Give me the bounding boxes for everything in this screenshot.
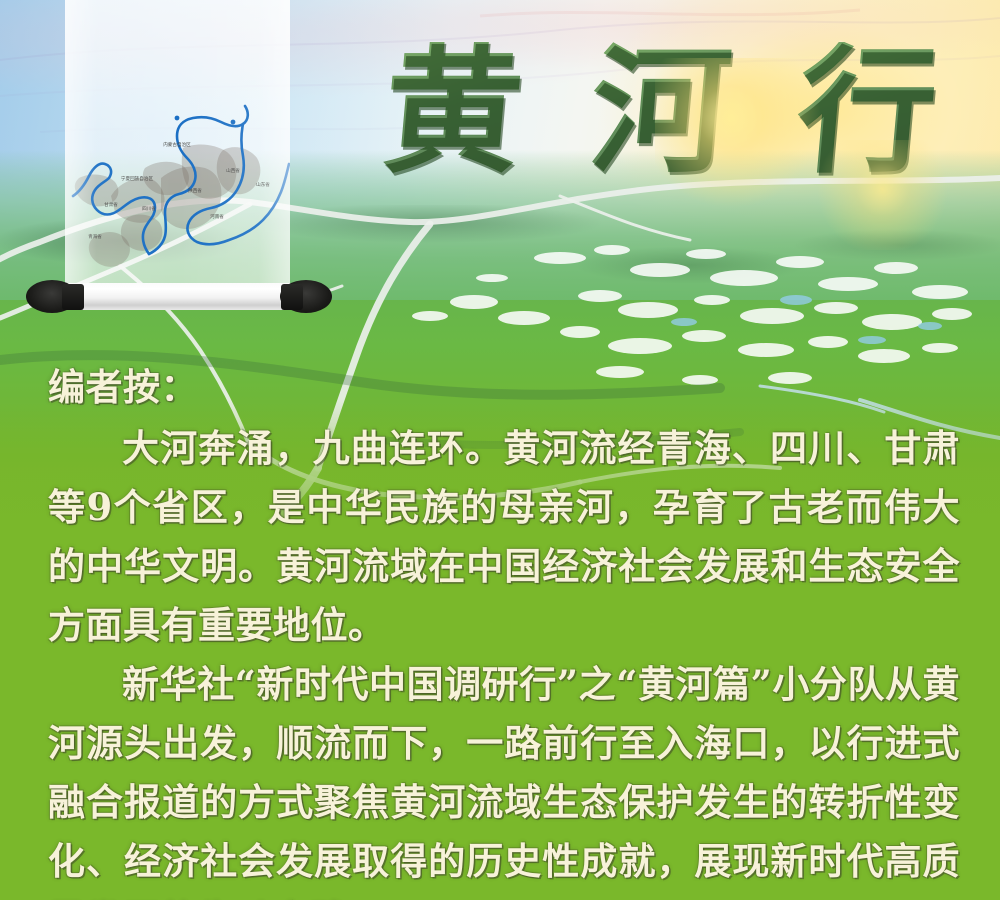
editors-note-lead: 编者按： [48,358,960,417]
scroll-roller-bar [63,283,292,310]
editors-note-block: 编者按： 大河奔涌，九曲连环。黄河流经青海、四川、甘肃等9个省区，是中华民族的母… [48,358,960,900]
editors-note-paragraph-1: 大河奔涌，九曲连环。黄河流经青海、四川、甘肃等9个省区，是中华民族的母亲河，孕育… [48,419,960,655]
scroll-knob-cap-left [62,284,84,310]
poster-root: 内蒙古自治区宁夏回族自治区陕西省山西省河南省山东省甘肃省青海省四川省 黄 河 行… [0,0,1000,900]
scroll-paper-sheen [65,0,290,300]
editors-note-paragraph-2: 新华社“新时代中国调研行”之“黄河篇”小分队从黄河源头出发，顺流而下，一路前行至… [48,655,960,900]
scroll-knob-cap-right [281,284,303,310]
